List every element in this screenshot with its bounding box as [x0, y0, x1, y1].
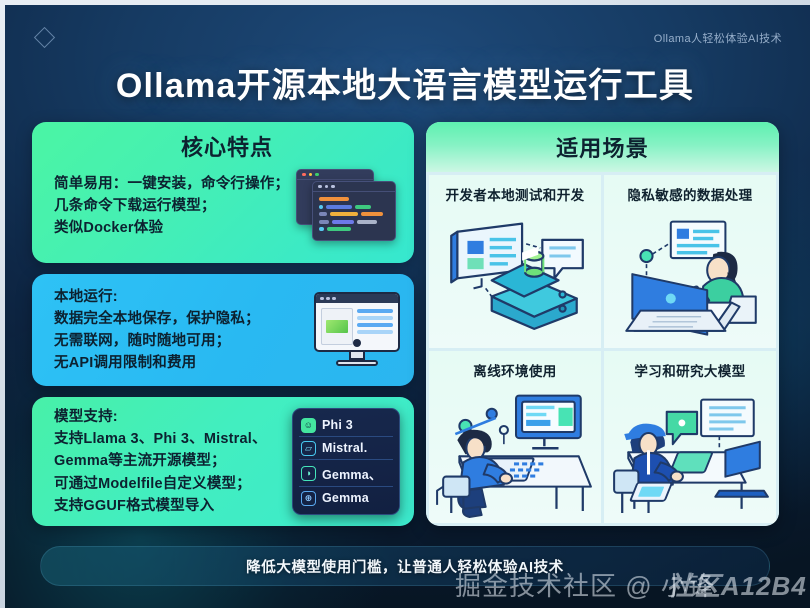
- model-row[interactable]: ⊕ Gemma: [299, 486, 393, 509]
- use-case-cell-developer: 开发者本地测试和开发: [429, 175, 601, 348]
- spiral-icon: ◑: [301, 466, 316, 481]
- corner-note: Ollama人轻松体验AI技术: [654, 30, 782, 46]
- model-row[interactable]: ▱ Mistral.: [299, 436, 393, 459]
- left-column: 核心特点 简单易用：一键安装，命令行操作； 几条命令下载运行模型； 类似Dock…: [32, 122, 414, 526]
- diamond-icon: [34, 27, 55, 48]
- use-case-cell-offline: 离线环境使用: [429, 351, 601, 524]
- globe-icon: ⊕: [301, 491, 316, 506]
- monitor-server-stack-icon: [429, 207, 601, 348]
- person-desktop-icon: [429, 383, 601, 524]
- card-models-body: 模型支持: 支持Llama 3、Phi 3、Mistral、 Gemma等主流开…: [54, 406, 292, 516]
- person-studying-icon: [604, 383, 776, 524]
- card-core-features: 核心特点 简单易用：一键安装，命令行操作； 几条命令下载运行模型； 类似Dock…: [32, 122, 414, 263]
- use-cases-header: 适用场景: [426, 122, 779, 172]
- model-name: Gemma: [322, 491, 369, 505]
- use-case-label: 隐私敏感的数据处理: [627, 184, 752, 204]
- robot-face-icon: ☺: [301, 418, 316, 433]
- use-case-label: 开发者本地测试和开发: [446, 184, 585, 204]
- use-case-cell-privacy: 隐私敏感的数据处理: [604, 175, 776, 348]
- model-name: Mistral.: [322, 441, 367, 455]
- frame-top-edge: [0, 0, 810, 5]
- model-list-widget: ☺ Phi 3 ▱ Mistral. ◑ Gemma、 ⊕ Gemma: [292, 408, 400, 515]
- code-windows-icon: [296, 169, 400, 243]
- footer-banner: 降低大模型使用门槛，让普通人轻松体验AI技术: [40, 546, 770, 586]
- page-title: Ollama开源本地大语言模型运行工具: [0, 58, 810, 107]
- frame-left-edge: [0, 0, 5, 608]
- wind-badge-icon: ▱: [301, 441, 316, 456]
- slide-canvas: Ollama人轻松体验AI技术 Ollama开源本地大语言模型运行工具 核心特点…: [0, 0, 810, 608]
- use-cases-heading: 适用场景: [556, 131, 649, 163]
- use-case-label: 离线环境使用: [473, 360, 556, 380]
- person-laptop-icon: [604, 207, 776, 348]
- card-local-run: 本地运行: 数据完全本地保存，保护隐私； 无需联网，随时随地可用； 无API调用…: [32, 274, 414, 386]
- model-name: Gemma、: [322, 464, 382, 483]
- right-panel-use-cases: 适用场景 开发者本地测试和开发: [426, 122, 779, 526]
- card-model-support: 模型支持: 支持Llama 3、Phi 3、Mistral、 Gemma等主流开…: [32, 397, 414, 526]
- use-cases-grid: 开发者本地测试和开发: [426, 172, 779, 526]
- use-case-cell-learning: 学习和研究大模型: [604, 351, 776, 524]
- model-row[interactable]: ☺ Phi 3: [299, 414, 393, 436]
- card-local-body: 本地运行: 数据完全本地保存，保护隐私； 无需联网，随时随地可用； 无API调用…: [54, 286, 314, 374]
- model-row[interactable]: ◑ Gemma、: [299, 459, 393, 486]
- use-case-label: 学习和研究大模型: [634, 360, 745, 380]
- footer-banner-text: 降低大模型使用门槛，让普通人轻松体验AI技术: [246, 556, 564, 577]
- card-core-heading: 核心特点: [54, 130, 400, 162]
- desktop-monitor-icon: [314, 292, 400, 368]
- card-core-body: 简单易用：一键安装，命令行操作； 几条命令下载运行模型； 类似Docker体验: [54, 173, 296, 239]
- model-name: Phi 3: [322, 418, 353, 432]
